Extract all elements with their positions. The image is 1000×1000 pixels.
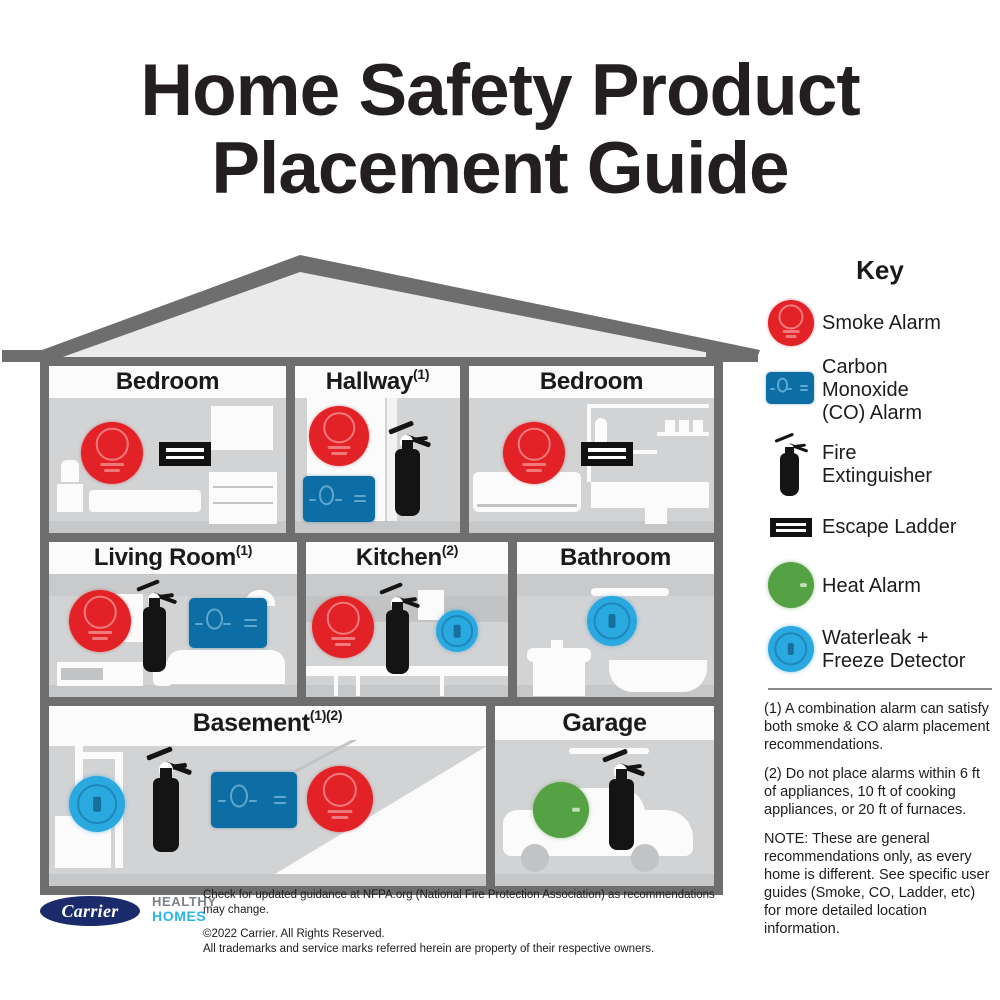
room-kitchen[interactable]: Kitchen(2) — [306, 542, 508, 697]
book — [665, 420, 675, 432]
room-scene-basement — [49, 740, 486, 886]
co-dash — [195, 623, 203, 625]
room-label-basement: Basement(1)(2) — [49, 706, 486, 740]
smoke-alarm-ring — [518, 428, 551, 461]
key-item-waterleak-freeze-detector[interactable]: Waterleak + Freeze Detector — [760, 622, 1000, 678]
extinguisher-horn — [146, 746, 173, 761]
floor-line — [49, 685, 297, 697]
co-dash — [770, 388, 775, 390]
key-item-escape-ladder[interactable]: Escape Ladder — [760, 504, 1000, 550]
smoke-wave — [88, 631, 112, 634]
vanity-light — [591, 588, 669, 596]
co-alarm-icon[interactable] — [303, 476, 375, 522]
smoke-wave — [104, 469, 120, 472]
ladder-rung-gap — [166, 456, 203, 459]
room-scene-hallway — [295, 398, 460, 533]
escape-ladder-icon[interactable] — [581, 442, 633, 466]
extinguisher-horn — [775, 433, 794, 443]
extinguisher-body — [153, 778, 179, 852]
co-wave — [800, 385, 808, 387]
co-wave — [354, 495, 366, 497]
smoke-wave — [331, 816, 348, 819]
key-item-co-alarm[interactable]: Carbon Monoxide (CO) Alarm — [760, 354, 1000, 426]
smoke-wave — [327, 810, 352, 813]
bed-line — [477, 504, 577, 507]
co-wave — [274, 802, 286, 804]
smoke-alarm-ring — [323, 773, 357, 807]
room-scene-bathroom — [517, 574, 714, 697]
room-label-bedroom-left: Bedroom — [49, 366, 286, 398]
room-scene-garage — [495, 740, 714, 886]
co-alarm-oval — [319, 486, 335, 506]
note-1: (1) A combination alarm can satisfy both… — [764, 700, 996, 754]
lower-floor: Basement(1)(2) — [49, 706, 714, 886]
heat-alarm-indicator — [800, 583, 806, 587]
title-line-1: Home Safety Product — [140, 50, 859, 131]
room-label-garage: Garage — [495, 706, 714, 740]
upper-floor: Bedroom — [49, 366, 714, 533]
shelf-small — [657, 432, 709, 436]
co-dash — [223, 623, 231, 625]
co-alarm-icon[interactable] — [189, 598, 267, 648]
infographic-page: Home Safety Product Placement Guide Bedr… — [0, 0, 1000, 1000]
co-dash — [787, 388, 792, 390]
key-panel: Key Smoke Alarm — [760, 255, 1000, 949]
key-label-waterleak-freeze-detector: Waterleak + Freeze Detector — [822, 627, 965, 673]
range-hood — [418, 590, 444, 620]
footer-text: Check for updated guidance at NFPA.org (… — [203, 888, 733, 957]
escape-ladder-icon[interactable] — [159, 442, 211, 466]
extinguisher-body — [386, 610, 410, 674]
smoke-alarm-ring — [323, 412, 355, 444]
footer-line-1: Check for updated guidance at NFPA.org (… — [203, 888, 733, 918]
smoke-wave — [100, 463, 124, 466]
note-2: (2) Do not place alarms within 6 ft of a… — [764, 765, 996, 819]
ladder-rung-gap — [588, 456, 625, 459]
ladder-rung-gap — [166, 448, 203, 451]
key-heading: Key — [760, 255, 1000, 286]
title-line-2: Placement Guide — [0, 130, 1000, 208]
co-dash — [218, 800, 227, 802]
water-core — [454, 625, 461, 638]
book — [679, 420, 689, 432]
co-wave — [244, 619, 256, 621]
dresser — [209, 472, 277, 524]
heat-alarm-indicator — [572, 808, 580, 812]
waterleak-freeze-detector-icon — [760, 622, 822, 678]
carrier-logo: Carrier — [40, 896, 140, 926]
floor-line — [469, 521, 714, 533]
toilet-tank — [533, 660, 585, 696]
co-wave — [800, 389, 808, 391]
room-label-kitchen: Kitchen(2) — [306, 542, 508, 574]
bed — [89, 490, 201, 512]
roof-icon — [0, 252, 760, 362]
dresser-line — [213, 502, 273, 504]
key-item-heat-alarm[interactable]: Heat Alarm — [760, 558, 1000, 614]
toilet-top — [527, 648, 591, 662]
room-label-bedroom-right: Bedroom — [469, 366, 714, 398]
smoke-wave — [92, 637, 108, 640]
waterleak-freeze-detector-icon[interactable] — [587, 596, 637, 646]
stool — [645, 502, 667, 524]
smoke-wave — [785, 335, 796, 338]
smoke-alarm-ring — [96, 428, 129, 461]
house-diagram: Bedroom — [0, 252, 760, 892]
notes-block: (1) A combination alarm can satisfy both… — [760, 700, 1000, 938]
co-alarm-icon — [760, 354, 822, 426]
smoke-alarm-icon[interactable] — [69, 590, 131, 652]
stool-leg — [334, 674, 338, 696]
room-label-hallway: Hallway(1) — [295, 366, 460, 398]
nightstand — [57, 484, 83, 512]
co-dash — [249, 800, 258, 802]
extinguisher-body — [395, 449, 420, 516]
room-bathroom[interactable]: Bathroom — [517, 542, 714, 697]
ceiling — [49, 740, 486, 746]
co-dash — [309, 499, 316, 501]
fire-extinguisher-icon[interactable] — [387, 426, 431, 516]
co-wave — [274, 796, 286, 798]
waterleak-freeze-detector-icon[interactable] — [69, 776, 125, 832]
stool-leg — [356, 674, 360, 696]
co-wave — [244, 625, 256, 627]
water-core — [609, 614, 616, 628]
floor-line — [495, 874, 714, 886]
key-item-smoke-alarm[interactable]: Smoke Alarm — [760, 300, 1000, 346]
ladder-rung-gap — [588, 448, 625, 451]
fire-extinguisher-icon[interactable] — [145, 752, 191, 852]
key-label-fire-extinguisher: Fire Extinguisher — [822, 442, 932, 488]
smoke-alarm-ring — [84, 596, 117, 629]
room-label-bathroom: Bathroom — [517, 542, 714, 574]
smoke-wave — [783, 330, 800, 333]
waterleak-freeze-detector-icon[interactable] — [436, 610, 478, 652]
heat-alarm-icon — [760, 558, 822, 614]
fire-extinguisher-icon[interactable] — [135, 584, 177, 672]
co-alarm-icon[interactable] — [211, 772, 297, 828]
extinguisher-body — [780, 453, 799, 496]
room-scene-bedroom-right — [469, 398, 714, 533]
key-label-escape-ladder: Escape Ladder — [822, 516, 957, 539]
floor-line — [295, 521, 460, 533]
key-label-smoke-alarm: Smoke Alarm — [822, 312, 941, 335]
heat-alarm-icon[interactable] — [533, 782, 589, 838]
water-core — [788, 643, 794, 655]
sofa — [167, 650, 285, 684]
fire-extinguisher-icon — [760, 434, 822, 496]
footer-line-2: ©2022 Carrier. All Rights Reserved. — [203, 927, 733, 942]
main-floor: Living Room(1) — [49, 542, 714, 697]
toilet-neck — [551, 640, 563, 650]
wall-art — [211, 406, 273, 450]
fire-extinguisher-icon[interactable] — [378, 588, 420, 674]
smoke-alarm-icon — [760, 300, 822, 346]
ladder-rung-gap — [776, 523, 806, 526]
room-label-living-room: Living Room(1) — [49, 542, 297, 574]
fire-extinguisher-icon[interactable] — [601, 754, 645, 850]
smoke-wave — [522, 463, 546, 466]
smoke-alarm-icon[interactable] — [312, 596, 374, 658]
lamp — [61, 460, 79, 482]
smoke-alarm-icon[interactable] — [309, 406, 369, 466]
room-garage[interactable]: Garage — [495, 706, 714, 886]
carrier-logo-text: Carrier — [61, 901, 118, 922]
smoke-wave — [335, 643, 351, 646]
shelf-top — [587, 404, 709, 408]
room-scene-kitchen — [306, 574, 508, 697]
co-alarm-oval — [206, 609, 222, 630]
footer: Carrier HEALTHY HOMES Check for updated … — [0, 888, 760, 958]
key-label-co-alarm: Carbon Monoxide (CO) Alarm — [822, 356, 922, 425]
car-wheel — [521, 844, 549, 872]
extinguisher-body — [609, 779, 634, 850]
stool-leg — [440, 674, 444, 696]
smoke-alarm-icon[interactable] — [81, 422, 143, 484]
co-dash — [335, 499, 342, 501]
room-scene-living-room — [49, 574, 297, 697]
co-alarm-oval — [230, 784, 248, 807]
room-basement[interactable]: Basement(1)(2) — [49, 706, 486, 886]
co-wave — [354, 500, 366, 502]
smoke-wave — [331, 637, 355, 640]
note-3: NOTE: These are general recommendations … — [764, 830, 996, 938]
key-item-fire-extinguisher[interactable]: Fire Extinguisher — [760, 434, 1000, 496]
dresser-line — [213, 486, 273, 488]
book — [693, 420, 703, 432]
room-living-room[interactable]: Living Room(1) — [49, 542, 297, 697]
room-bedroom-left[interactable]: Bedroom — [49, 366, 286, 533]
smoke-alarm-icon[interactable] — [307, 766, 373, 832]
smoke-wave — [526, 469, 542, 472]
key-divider — [768, 688, 992, 690]
bathtub — [609, 660, 707, 692]
ladder-rung-gap — [776, 529, 806, 532]
room-scene-bedroom-left — [49, 398, 286, 533]
house-body: Bedroom — [40, 357, 723, 895]
smoke-wave — [331, 452, 347, 455]
footer-line-3: All trademarks and service marks referre… — [203, 942, 733, 957]
room-hallway[interactable]: Hallway(1) — [295, 366, 460, 533]
smoke-wave — [328, 446, 351, 449]
co-alarm-oval — [777, 378, 789, 393]
page-title: Home Safety Product Placement Guide — [0, 52, 1000, 208]
floor-line — [49, 874, 486, 886]
escape-ladder-icon — [760, 504, 822, 550]
water-core — [93, 797, 101, 812]
console-panel — [61, 668, 103, 680]
extinguisher-body — [143, 607, 167, 672]
smoke-alarm-icon[interactable] — [503, 422, 565, 484]
room-bedroom-right[interactable]: Bedroom — [469, 366, 714, 533]
smoke-alarm-ring — [778, 304, 803, 329]
key-label-heat-alarm: Heat Alarm — [822, 575, 921, 598]
smoke-alarm-ring — [327, 602, 360, 635]
